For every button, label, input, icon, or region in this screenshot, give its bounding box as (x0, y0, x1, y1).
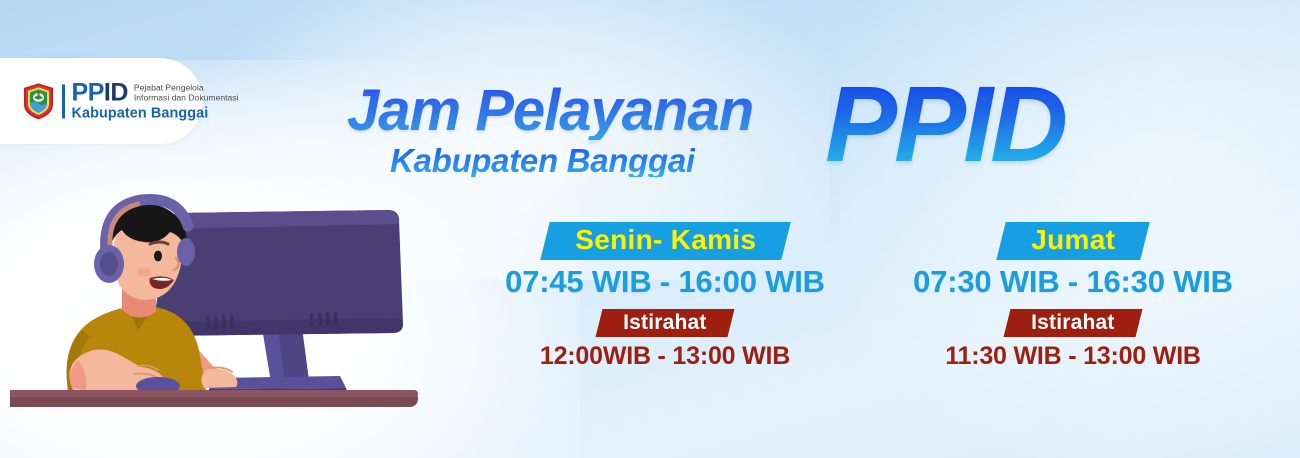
ppid-wordmark: PPID (825, 70, 1065, 178)
logo-subtitle: Pejabat Pengelola Informasi dan Dokument… (134, 81, 239, 102)
logo-lockup: PPID Pejabat Pengelola Informasi dan Dok… (22, 81, 239, 120)
break-badge: Istirahat (1004, 309, 1142, 337)
day-badge: Senin- Kamis (540, 222, 790, 260)
break-badge-label: Istirahat (1031, 312, 1115, 333)
logo-text-block: PPID Pejabat Pengelola Informasi dan Dok… (72, 81, 239, 120)
banggai-regency-crest-icon (22, 82, 55, 120)
logo-region: Kabupaten Banggai (72, 106, 239, 120)
illustration-man-at-computer (10, 140, 440, 420)
service-hours: 07:30 WIB - 16:30 WIB (913, 264, 1233, 300)
day-badge-label: Senin- Kamis (575, 226, 756, 254)
logo-acronym-d: D (110, 78, 128, 106)
day-badge-label: Jumat (1031, 226, 1115, 254)
break-badge-label: Istirahat (623, 312, 707, 333)
schedule-column-weekday: Senin- Kamis 07:45 WIB - 16:00 WIB Istir… (470, 222, 860, 371)
illustration-svg (10, 140, 440, 420)
schedule-block: Senin- Kamis 07:45 WIB - 16:00 WIB Istir… (470, 222, 1270, 371)
ppid-service-hours-banner: PPID Pejabat Pengelola Informasi dan Dok… (0, 0, 1300, 458)
break-hours: 11:30 WIB - 13:00 WIB (945, 342, 1201, 371)
break-hours: 12:00WIB - 13:00 WIB (540, 342, 790, 371)
logo-divider (62, 84, 65, 118)
schedule-column-friday: Jumat 07:30 WIB - 16:30 WIB Istirahat 11… (878, 222, 1268, 371)
break-badge: Istirahat (596, 309, 734, 337)
day-badge: Jumat (996, 222, 1149, 260)
headline-block: Jam Pelayanan Kabupaten Banggai PPID (345, 82, 1105, 192)
service-hours: 07:45 WIB - 16:00 WIB (505, 264, 825, 300)
desk-graphic (10, 390, 418, 407)
logo-panel: PPID Pejabat Pengelola Informasi dan Dok… (0, 58, 203, 144)
logo-acronym-p2: P (88, 78, 104, 106)
headline-line1: Jam Pelayanan (347, 82, 753, 140)
logo-acronym-p1: P (72, 78, 88, 106)
logo-acronym: PPID (72, 81, 128, 105)
logo-subtitle-line2: Informasi dan Dokumentasi (134, 93, 239, 103)
